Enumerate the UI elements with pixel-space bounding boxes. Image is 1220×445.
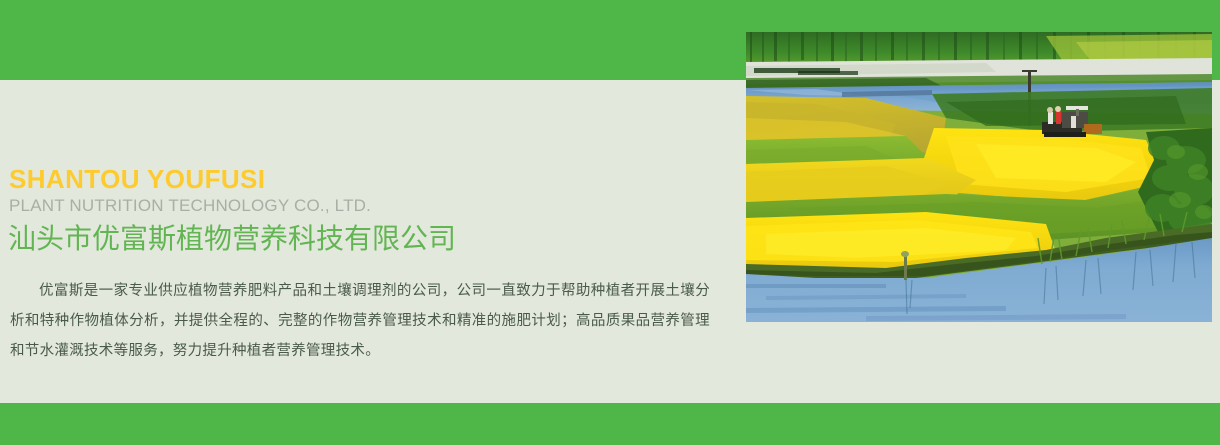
company-intro-column: SHANTOU YOUFUSI PLANT NUTRITION TECHNOLO… <box>0 80 740 403</box>
company-name-chinese: 汕头市优富斯植物营养科技有限公司 <box>8 221 456 256</box>
company-name-english: SHANTOU YOUFUSI <box>9 166 265 192</box>
company-tagline-english: PLANT NUTRITION TECHNOLOGY CO., LTD. <box>9 197 371 214</box>
farm-landscape-photo <box>746 32 1212 322</box>
farm-landscape-illustration <box>746 32 1212 322</box>
company-profile-banner: SHANTOU YOUFUSI PLANT NUTRITION TECHNOLO… <box>0 0 1220 445</box>
bottom-green-bar <box>0 403 1220 445</box>
company-intro-paragraph: 优富斯是一家专业供应植物营养肥料产品和土壤调理剂的公司，公司一直致力于帮助种植者… <box>10 276 710 366</box>
